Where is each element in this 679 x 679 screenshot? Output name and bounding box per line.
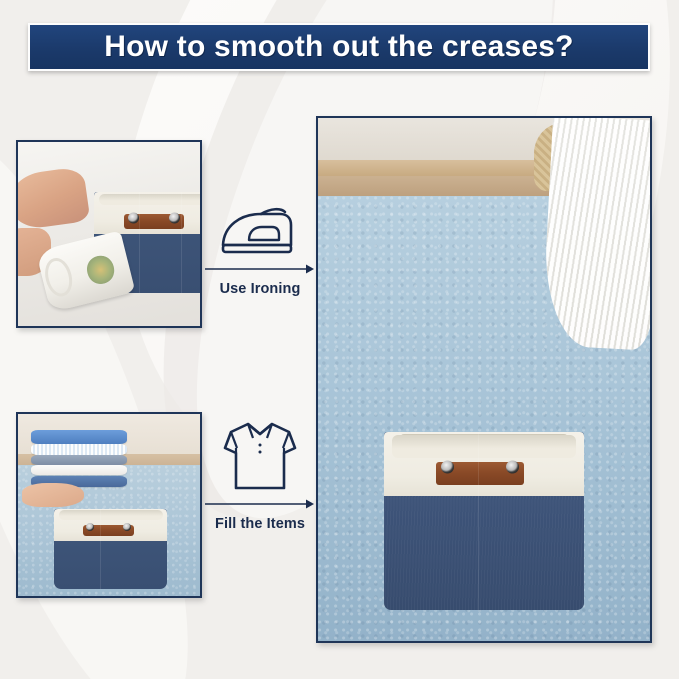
step-use-ironing: Use Ironing — [205, 185, 315, 297]
panel-finished-basket-on-carpet — [316, 116, 652, 643]
grommet-left-icon — [128, 212, 139, 223]
hand-icon — [22, 483, 84, 507]
basket-rim — [99, 194, 200, 205]
basket-rim — [392, 435, 575, 458]
iron-handle — [41, 255, 75, 298]
grommet-right-icon — [506, 461, 519, 474]
grommet-left-icon — [86, 523, 94, 531]
panel-folded-towels-over-basket — [16, 412, 202, 598]
towel-item — [31, 444, 127, 455]
step-label: Fill the Items — [205, 516, 315, 532]
photo-folded-towels-over-basket — [18, 414, 200, 596]
white-curtain — [541, 118, 650, 351]
photo-hand-ironing-basket — [18, 142, 200, 326]
arrow-right-icon — [205, 497, 315, 515]
basket-rim — [59, 510, 163, 520]
iron-floral-decal — [84, 252, 116, 286]
basket-seam — [478, 432, 479, 610]
banner-title: How to smooth out the creases? — [104, 30, 573, 64]
photo-finished-basket-on-carpet — [318, 118, 650, 641]
grommet-right-icon — [169, 212, 180, 223]
grommet-right-icon — [123, 523, 131, 531]
step-fill-the-items: Fill the Items — [205, 420, 315, 532]
basket-seam — [181, 192, 182, 293]
polo-shirt-icon — [205, 420, 315, 494]
basket-seam — [100, 509, 101, 589]
storage-basket — [54, 509, 167, 589]
basket-leather-handle — [124, 214, 183, 229]
step-label: Use Ironing — [205, 281, 315, 297]
arrow-right-icon — [205, 262, 315, 280]
basket-leather-handle — [436, 462, 524, 485]
grommet-left-icon — [441, 461, 454, 474]
panel-hand-ironing-basket — [16, 140, 202, 328]
basket-seam — [139, 192, 140, 293]
basket-leather-handle — [83, 525, 135, 536]
towel-item — [31, 430, 127, 444]
iron-icon — [205, 185, 315, 259]
header-banner: How to smooth out the creases? — [28, 23, 650, 71]
towel-item — [31, 455, 127, 465]
folded-towels-stack — [31, 430, 127, 486]
storage-basket — [384, 432, 583, 610]
towel-item — [31, 465, 127, 476]
